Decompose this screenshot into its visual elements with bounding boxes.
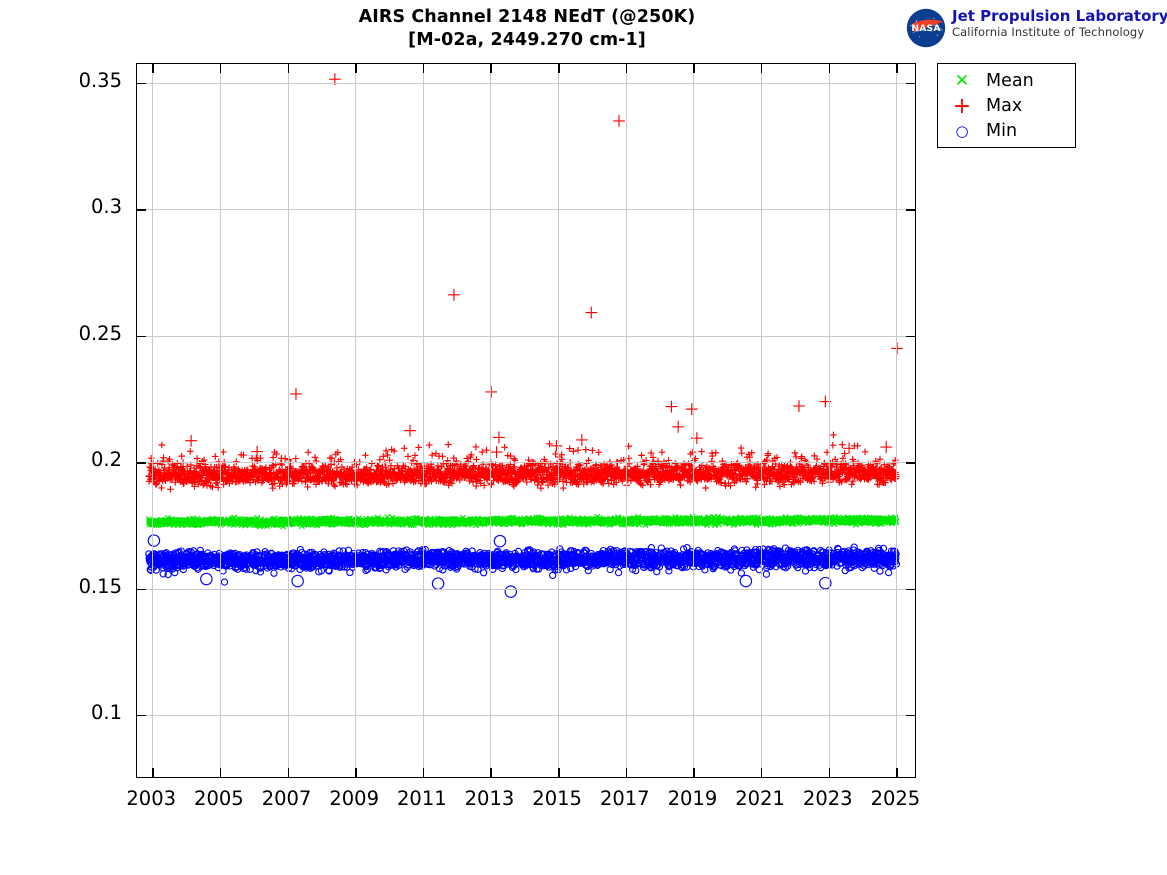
x-axis-tick <box>761 768 762 777</box>
y-axis-tick-label: 0.1 <box>0 701 122 724</box>
jpl-title: Jet Propulsion Laboratory <box>952 8 1167 25</box>
y-axis-tick-label: 0.35 <box>0 69 122 92</box>
legend-label-max: Max <box>986 98 1022 116</box>
x-axis-tick-top <box>761 64 762 73</box>
y-axis-tick-right <box>906 462 915 463</box>
x-axis-tick <box>355 768 356 777</box>
legend-marker-max-icon: + <box>938 96 986 118</box>
gridline-horizontal <box>137 83 915 84</box>
plot-area <box>136 63 916 778</box>
gridline-vertical <box>896 64 897 777</box>
y-axis-tick-right <box>906 589 915 590</box>
nasa-jpl-logo: NASA Jet Propulsion Laboratory Californi… <box>906 6 1161 50</box>
gridline-vertical <box>490 64 491 777</box>
x-axis-tick-top <box>896 64 897 73</box>
legend-item-mean: ✕ Mean <box>938 69 1075 94</box>
x-axis-tick-top <box>220 64 221 73</box>
x-axis-tick-top <box>355 64 356 73</box>
x-axis-tick-top <box>152 64 153 73</box>
gridline-horizontal <box>137 715 915 716</box>
x-axis-tick-top <box>829 64 830 73</box>
x-axis-tick <box>490 768 491 777</box>
x-axis-tick <box>288 768 289 777</box>
x-axis-tick <box>152 768 153 777</box>
gridline-vertical <box>693 64 694 777</box>
plot-canvas <box>137 64 915 777</box>
legend-item-max: + Max <box>938 94 1075 119</box>
gridline-vertical <box>626 64 627 777</box>
scatter-data-layer <box>137 64 915 777</box>
x-axis-tick-label: 2025 <box>855 787 935 810</box>
x-axis-tick <box>829 768 830 777</box>
series-mean <box>146 514 899 529</box>
y-axis-tick-right <box>906 336 915 337</box>
gridline-horizontal <box>137 462 915 463</box>
gridline-horizontal <box>137 336 915 337</box>
legend-marker-min-icon: ○ <box>938 124 986 139</box>
x-axis-tick <box>423 768 424 777</box>
x-axis-tick <box>220 768 221 777</box>
gridline-vertical <box>220 64 221 777</box>
y-axis-tick-right <box>906 715 915 716</box>
x-axis-tick-top <box>288 64 289 73</box>
chart-page: AIRS Channel 2148 NEdT (@250K) [M-02a, 2… <box>0 0 1167 875</box>
page-title: AIRS Channel 2148 NEdT (@250K) [M-02a, 2… <box>137 6 917 52</box>
gridline-vertical <box>288 64 289 777</box>
title-line-2: [M-02a, 2449.270 cm-1] <box>137 29 917 52</box>
x-axis-tick <box>693 768 694 777</box>
svg-text:NASA: NASA <box>911 23 941 34</box>
x-axis-tick-top <box>693 64 694 73</box>
gridline-vertical <box>761 64 762 777</box>
legend-label-mean: Mean <box>986 73 1034 91</box>
gridline-vertical <box>829 64 830 777</box>
title-line-1: AIRS Channel 2148 NEdT (@250K) <box>137 6 917 29</box>
y-axis-tick-label: 0.2 <box>0 448 122 471</box>
nasa-meatball-icon: NASA <box>906 8 946 48</box>
caltech-subtitle: California Institute of Technology <box>952 26 1167 39</box>
y-axis-tick <box>137 589 146 590</box>
legend-label-min: Min <box>986 123 1017 141</box>
gridline-vertical <box>558 64 559 777</box>
x-axis-tick-top <box>558 64 559 73</box>
y-axis-tick <box>137 462 146 463</box>
x-axis-tick <box>626 768 627 777</box>
y-axis-tick-label: 0.3 <box>0 195 122 218</box>
gridline-vertical <box>152 64 153 777</box>
gridline-horizontal <box>137 209 915 210</box>
y-axis-tick <box>137 336 146 337</box>
x-axis-tick-top <box>490 64 491 73</box>
gridline-horizontal <box>137 589 915 590</box>
gridline-vertical <box>355 64 356 777</box>
legend-marker-mean-icon: ✕ <box>938 73 986 90</box>
x-axis-tick <box>896 768 897 777</box>
x-axis-tick <box>558 768 559 777</box>
y-axis-tick <box>137 715 146 716</box>
x-axis-tick-top <box>423 64 424 73</box>
y-axis-tick-right <box>906 83 915 84</box>
gridline-vertical <box>423 64 424 777</box>
y-axis-tick <box>137 209 146 210</box>
chart-legend: ✕ Mean + Max ○ Min <box>937 63 1076 148</box>
legend-item-min: ○ Min <box>938 119 1075 144</box>
x-axis-tick-top <box>626 64 627 73</box>
y-axis-tick <box>137 83 146 84</box>
series-max <box>146 73 903 492</box>
y-axis-tick-label: 0.25 <box>0 322 122 345</box>
y-axis-tick-right <box>906 209 915 210</box>
logo-text: Jet Propulsion Laboratory California Ins… <box>952 8 1167 39</box>
y-axis-tick-label: 0.15 <box>0 575 122 598</box>
